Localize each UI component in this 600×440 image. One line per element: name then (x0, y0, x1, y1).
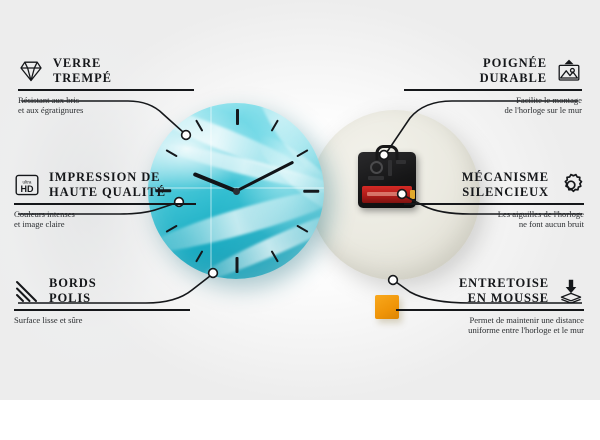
feature-header: ultra HD IMPRESSION DE HAUTE QUALITÉ (14, 170, 196, 199)
feature-title: VERRE TREMPÉ (53, 56, 112, 85)
feature-rule (14, 309, 190, 311)
feature-title: MÉCANISME SILENCIEUX (462, 170, 549, 199)
clock-tick (303, 190, 319, 193)
arrow-press-layers-icon (558, 278, 584, 304)
feature-description: Les aiguilles de l'horloge ne font aucun… (404, 209, 584, 230)
mechanism-detail (368, 176, 384, 180)
mechanism-hook (376, 145, 399, 160)
mechanism-detail (388, 160, 392, 176)
infographic-canvas: VERRE TREMPÉ Résistant aux bris et aux é… (0, 0, 600, 400)
feature-title: BORDS POLIS (49, 276, 97, 305)
feature-description: Permet de maintenir une distance uniform… (396, 315, 584, 336)
feature-title: ENTRETOISE EN MOUSSE (459, 276, 549, 305)
feature-impression-haute-qualite: ultra HD IMPRESSION DE HAUTE QUALITÉ Cou… (14, 170, 196, 230)
clock-center-cap (233, 188, 240, 195)
diamond-icon (18, 58, 44, 84)
feature-bords-polis: BORDS POLIS Surface lisse et sûre (14, 276, 190, 325)
feature-title: IMPRESSION DE HAUTE QUALITÉ (49, 170, 166, 199)
feature-rule (18, 89, 194, 91)
ultra-hd-icon: ultra HD (14, 172, 40, 198)
clock-tick (236, 109, 239, 125)
feature-poignee-durable: POIGNÉE DURABLE Facilite le montage de l… (404, 56, 582, 116)
feature-description: Résistant aux bris et aux égratignures (18, 95, 194, 116)
hanging-picture-frame-icon (556, 58, 582, 84)
feature-header: POIGNÉE DURABLE (404, 56, 582, 85)
gear-icon (558, 172, 584, 198)
svg-text:HD: HD (21, 184, 34, 194)
feature-rule (404, 203, 584, 205)
battery-stripe (367, 192, 400, 196)
mechanism-detail (396, 160, 406, 164)
mechanism-shaft (370, 161, 383, 174)
feature-header: MÉCANISME SILENCIEUX (404, 170, 584, 199)
feature-header: ENTRETOISE EN MOUSSE (396, 276, 584, 305)
feature-title: POIGNÉE DURABLE (480, 56, 547, 85)
feature-description: Couleurs intenses et image claire (14, 209, 196, 230)
feature-rule (404, 89, 582, 91)
feature-description: Surface lisse et sûre (14, 315, 190, 326)
feature-verre-trempe: VERRE TREMPÉ Résistant aux bris et aux é… (18, 56, 194, 116)
feature-entretoise-en-mousse: ENTRETOISE EN MOUSSE Permet de maintenir… (396, 276, 584, 336)
feature-header: BORDS POLIS (14, 276, 190, 305)
feature-description: Facilite le montage de l'horloge sur le … (404, 95, 582, 116)
clock-tick (236, 257, 239, 273)
feature-mecanisme-silencieux: MÉCANISME SILENCIEUX Les aiguilles de l'… (404, 170, 584, 230)
feature-header: VERRE TREMPÉ (18, 56, 194, 85)
feature-rule (396, 309, 584, 311)
feature-rule (14, 203, 196, 205)
diagonal-stripes-icon (14, 278, 40, 304)
